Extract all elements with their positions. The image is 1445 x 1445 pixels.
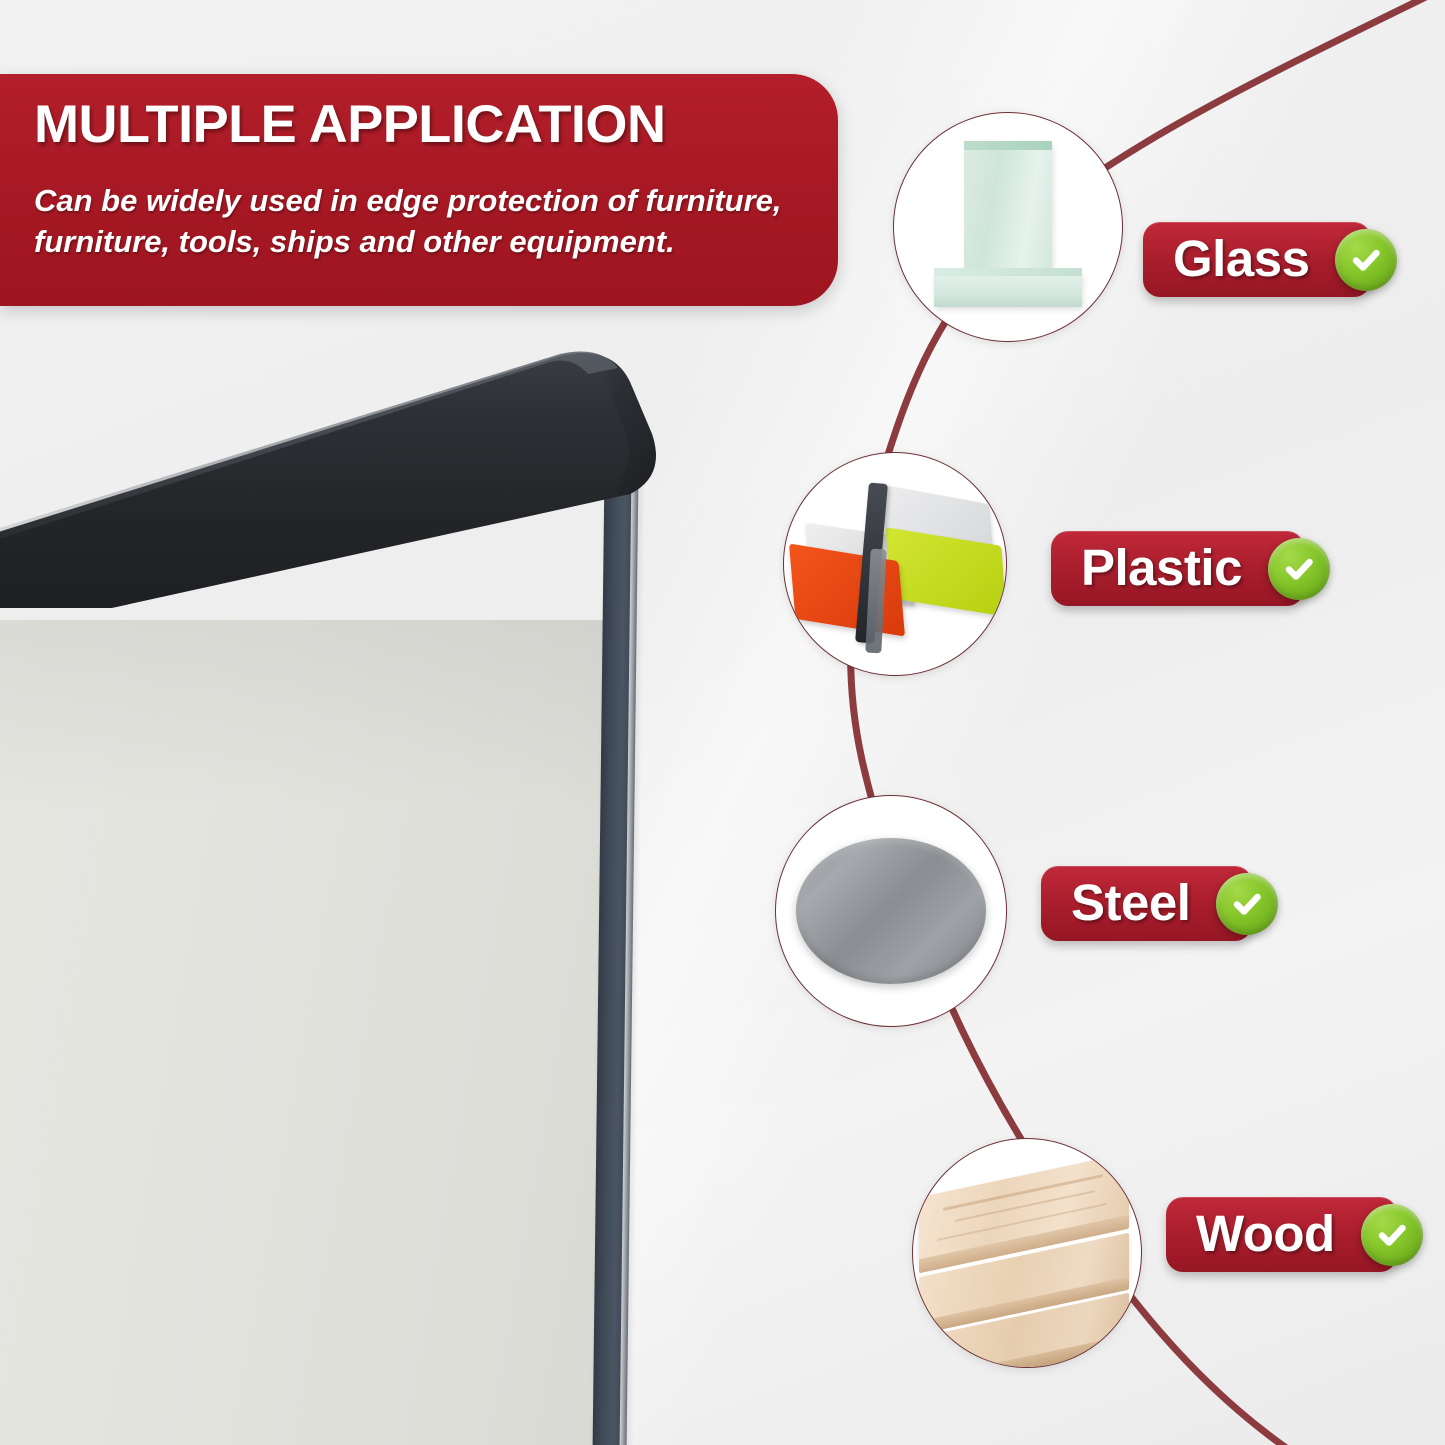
plastic-badge[interactable]: Plastic — [1051, 531, 1304, 606]
glass-panels-icon — [894, 113, 1122, 341]
green-check-icon — [1335, 229, 1397, 291]
glass-pill[interactable]: Glass — [1143, 222, 1371, 297]
plastic-bubble — [783, 452, 1007, 676]
glass-bubble — [893, 112, 1123, 342]
green-check-icon — [1361, 1204, 1423, 1266]
infographic-canvas: MULTIPLE APPLICATION Can be widely used … — [0, 0, 1445, 1445]
plastic-pill[interactable]: Plastic — [1051, 531, 1304, 606]
product-photo — [0, 330, 740, 1445]
green-check-icon — [1216, 873, 1278, 935]
wood-planks-icon — [913, 1139, 1141, 1367]
page-title: MULTIPLE APPLICATION — [34, 98, 665, 151]
headline-banner: MULTIPLE APPLICATION Can be widely used … — [0, 74, 838, 306]
wood-pill[interactable]: Wood — [1166, 1197, 1397, 1272]
plastic-label: Plastic — [1081, 542, 1242, 593]
wood-label: Wood — [1196, 1208, 1335, 1259]
banner-subtitle: Can be widely used in edge protection of… — [34, 180, 809, 262]
glass-label: Glass — [1173, 233, 1309, 284]
protected-panel — [0, 620, 620, 1445]
steel-label: Steel — [1071, 877, 1190, 928]
glass-badge[interactable]: Glass — [1143, 222, 1371, 297]
green-check-icon — [1268, 538, 1330, 600]
steel-badge[interactable]: Steel — [1041, 866, 1252, 941]
edge-guard-trim — [0, 348, 690, 603]
acrylic-sheets-icon — [784, 453, 1006, 675]
steel-pill[interactable]: Steel — [1041, 866, 1252, 941]
steel-bubble — [775, 795, 1007, 1027]
wood-badge[interactable]: Wood — [1166, 1197, 1397, 1272]
steel-disc-icon — [776, 796, 1006, 1026]
wood-bubble — [912, 1138, 1142, 1368]
